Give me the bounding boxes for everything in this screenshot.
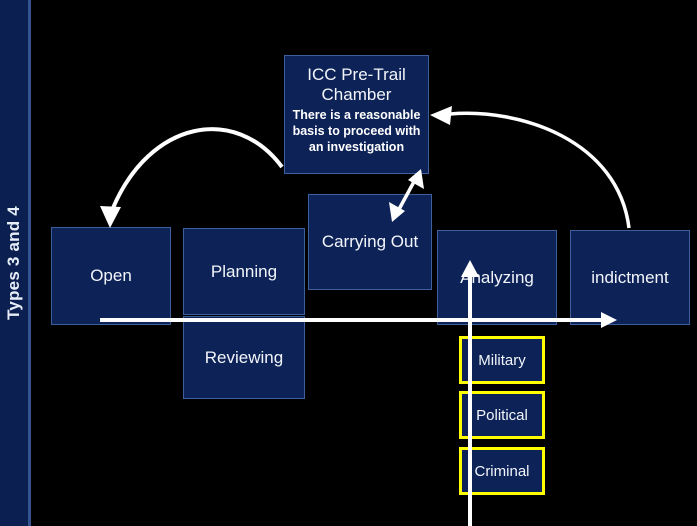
box-political[interactable]: Political (459, 391, 545, 439)
indictment-to-icc-arrow-head (430, 106, 452, 125)
box-carrying-out-label: Carrying Out (322, 232, 418, 252)
box-analyzing[interactable]: Analyzing (437, 230, 557, 325)
box-reviewing[interactable]: Reviewing (183, 316, 305, 399)
icc-to-open-arrow-curve (113, 129, 282, 208)
indictment-to-icc-arrow-curve (450, 113, 629, 228)
slide-canvas: Types 3 and 4 ICC Pre-Trail Chamber Ther… (0, 0, 697, 526)
box-analyzing-label: Analyzing (460, 268, 534, 288)
icc-title: ICC Pre-Trail Chamber (285, 65, 428, 105)
box-open[interactable]: Open (51, 227, 171, 325)
icc-subtitle: There is a reasonable basis to proceed w… (285, 107, 428, 155)
box-indictment-label: indictment (591, 268, 668, 288)
box-icc-pre-trial-chamber[interactable]: ICC Pre-Trail Chamber There is a reasona… (284, 55, 429, 174)
box-criminal-label: Criminal (474, 463, 529, 480)
box-planning-label: Planning (211, 262, 277, 282)
box-political-label: Political (476, 407, 528, 424)
box-open-label: Open (90, 266, 132, 286)
sidebar-band: Types 3 and 4 (0, 0, 31, 526)
box-planning[interactable]: Planning (183, 228, 305, 315)
box-military-label: Military (478, 352, 526, 369)
icc-to-open-arrow-head (100, 206, 121, 228)
box-reviewing-label: Reviewing (205, 348, 283, 368)
box-indictment[interactable]: indictment (570, 230, 690, 325)
box-military[interactable]: Military (459, 336, 545, 384)
box-criminal[interactable]: Criminal (459, 447, 545, 495)
box-carrying-out[interactable]: Carrying Out (308, 194, 432, 290)
sidebar-label: Types 3 and 4 (4, 206, 24, 320)
